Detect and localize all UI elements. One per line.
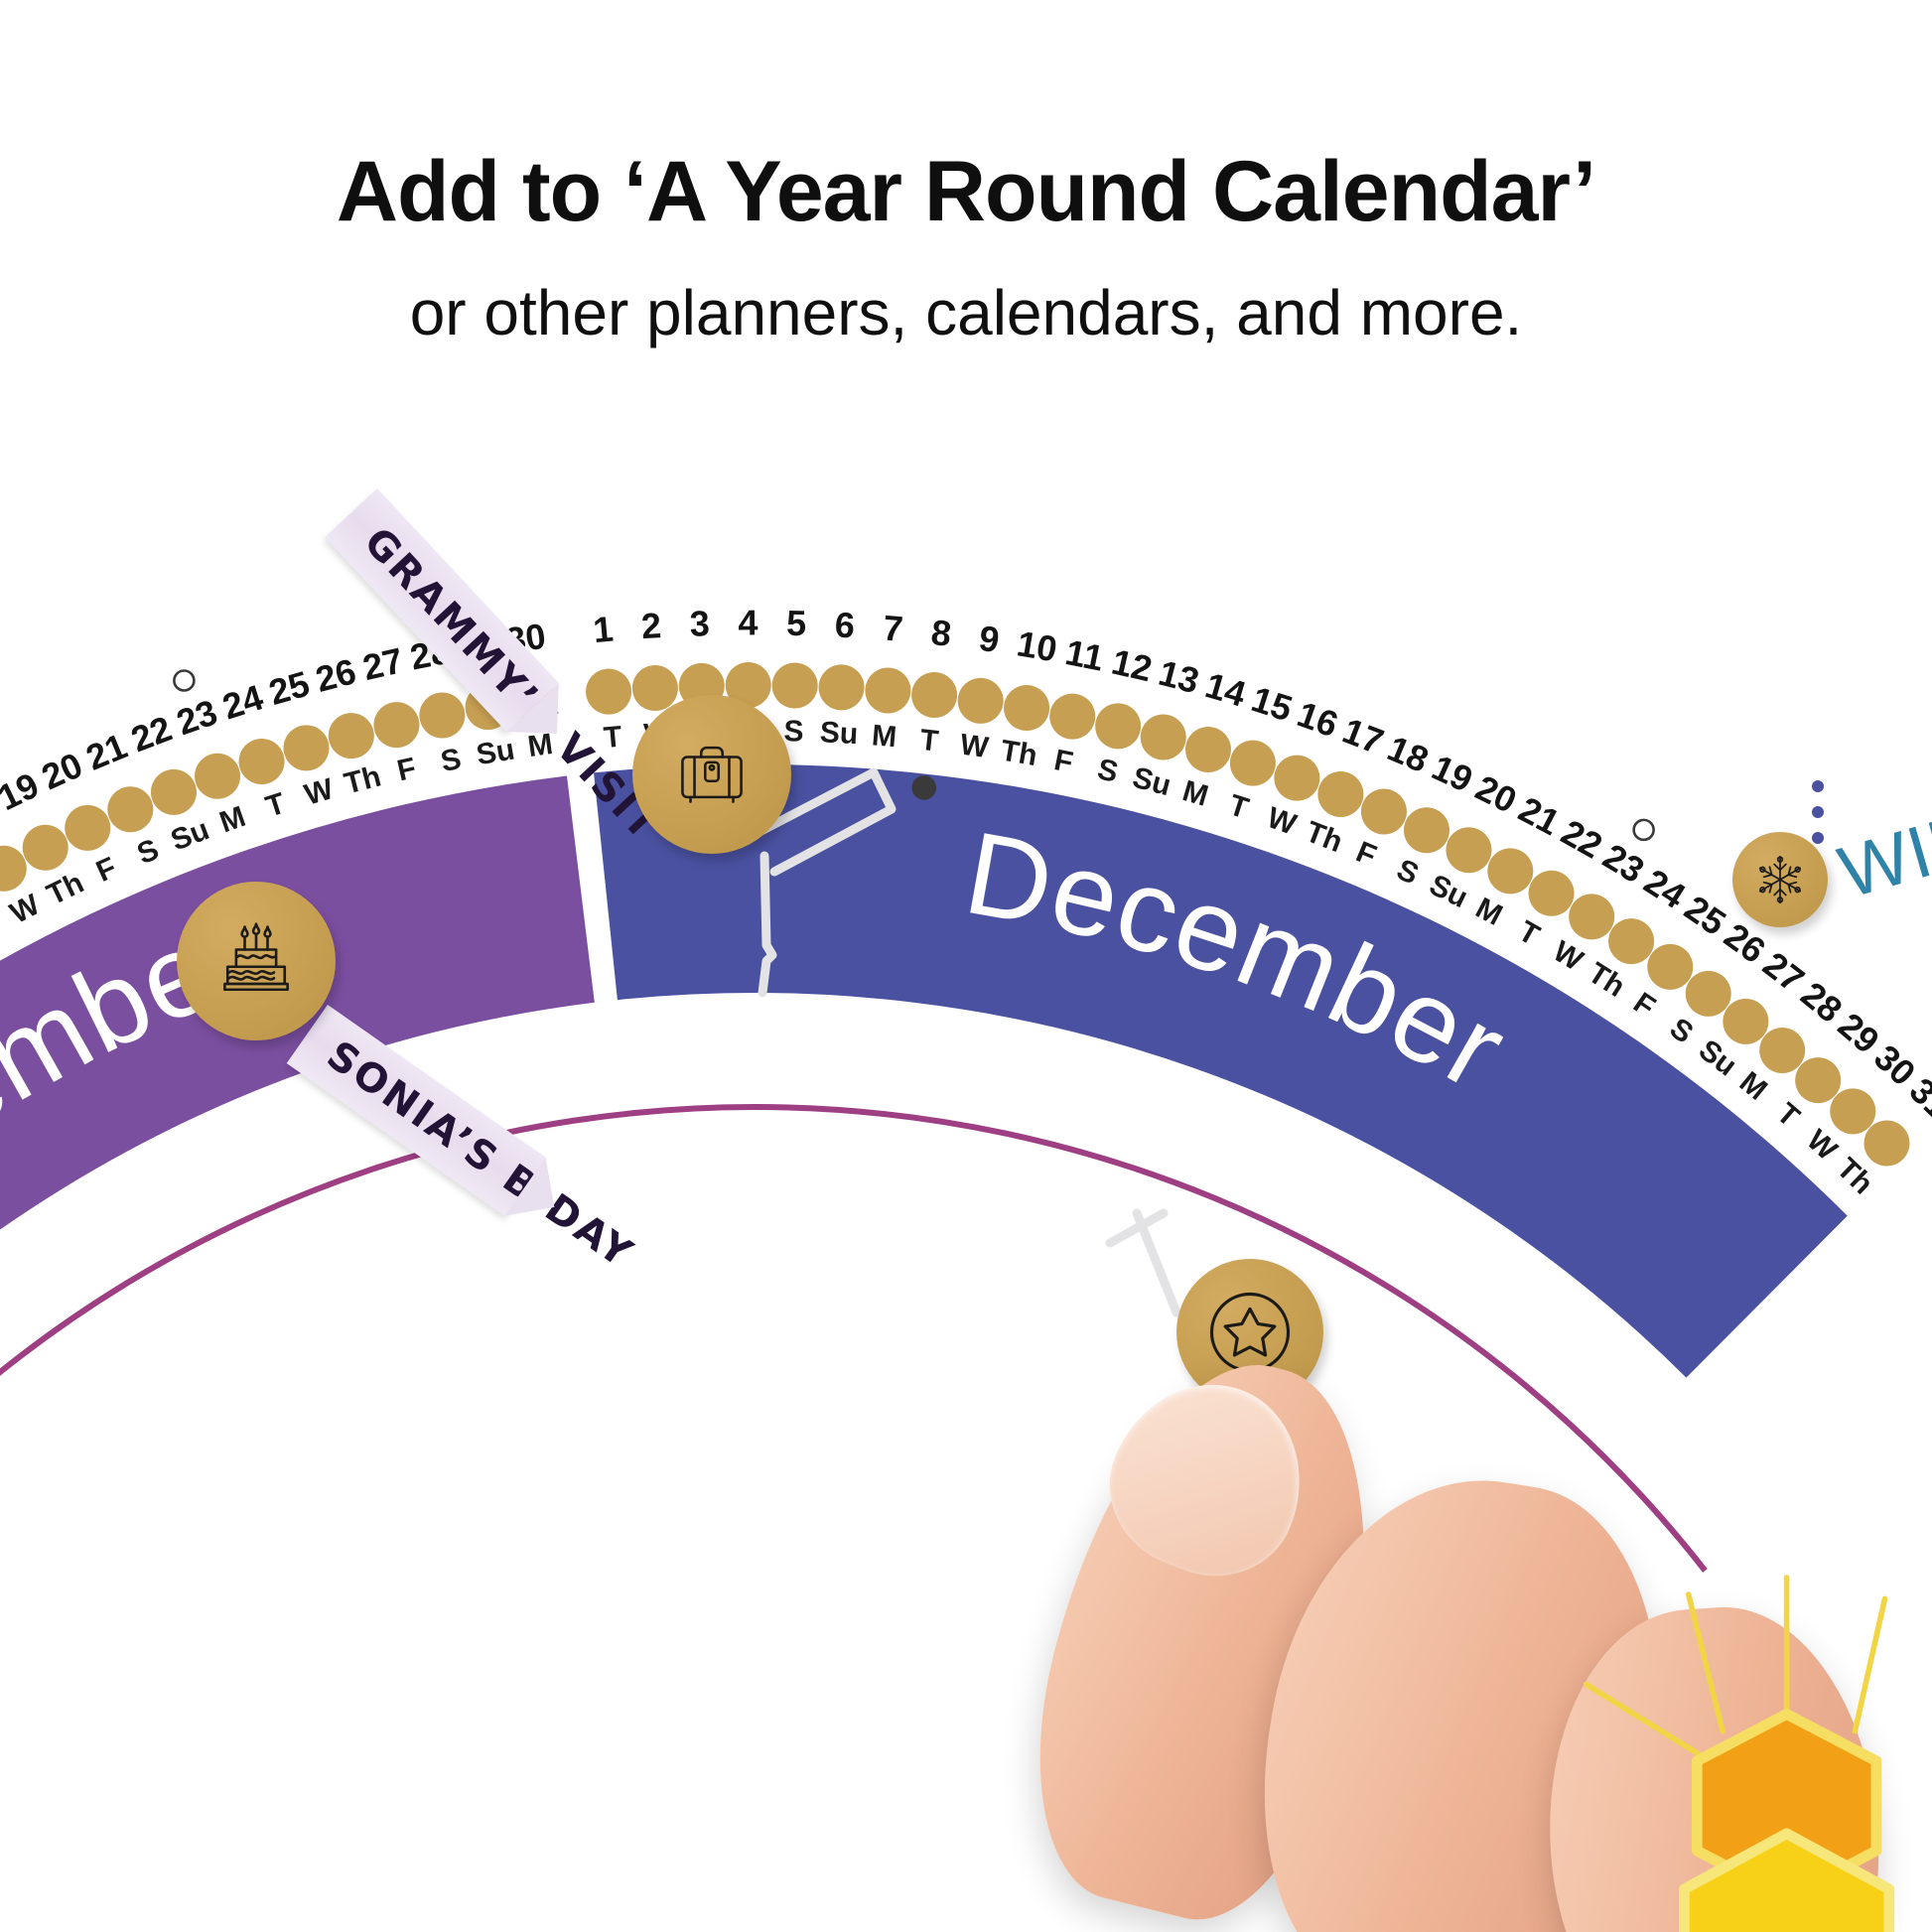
day-number: 21 (1512, 788, 1567, 843)
weekday-letter: Su (475, 733, 517, 771)
day-dot (865, 668, 910, 714)
weekday-letter: Su (167, 813, 214, 858)
day-number: 14 (1201, 664, 1251, 715)
day-number: 26 (312, 650, 360, 700)
day-dot (1004, 685, 1049, 731)
season-ring-line (0, 1107, 1705, 1932)
weekday-letter: M (1470, 892, 1507, 932)
day-dot (958, 678, 1004, 724)
connector-dot (1812, 780, 1824, 792)
sticker-star[interactable] (1176, 1259, 1323, 1406)
day-dot (1487, 848, 1533, 894)
connector-dot (1812, 832, 1824, 844)
day-dot (1795, 1057, 1841, 1103)
day-dot (772, 663, 818, 709)
day-number: 22 (1555, 811, 1609, 866)
day-dot (911, 672, 957, 718)
weekday-letter: T (262, 787, 289, 824)
day-number: 9 (977, 618, 1003, 660)
day-number: 24 (1637, 861, 1693, 916)
weekday-letter: S (1664, 1012, 1700, 1049)
day-number: 23 (1596, 835, 1651, 891)
day-number: 1 (592, 609, 616, 651)
day-number: 24 (217, 676, 268, 727)
weekday-letter: Th (1583, 956, 1631, 1004)
sticker-suitcase[interactable] (632, 695, 791, 854)
day-number: 6 (834, 604, 856, 645)
day-dot (284, 725, 330, 770)
weekday-letter: W (5, 888, 46, 930)
day-number: 22 (125, 708, 177, 760)
weekday-letter: F (1051, 744, 1075, 779)
day-dot (1759, 1028, 1805, 1073)
poster-canvas: Add to ‘A Year Round Calendar’ or other … (0, 0, 1932, 1932)
weekday-letter: S (133, 833, 164, 871)
day-number: 23 (172, 691, 222, 743)
sticker-snowflake[interactable] (1732, 832, 1828, 927)
connector-dot (1812, 806, 1824, 818)
day-dot (1095, 703, 1141, 749)
day-dot (1529, 871, 1575, 916)
weekday-letter: W (1800, 1124, 1844, 1168)
sun-graphic (1565, 1565, 1932, 1932)
day-dot (1274, 756, 1319, 801)
day-dot (373, 702, 419, 748)
weekday-letter: T (603, 721, 623, 756)
weekday-letter: T (1225, 788, 1253, 825)
moon-marker-new-moon-open (174, 670, 194, 690)
day-number: 11 (1062, 631, 1107, 679)
snowflake-icon (1749, 849, 1811, 910)
day-dot (1830, 1088, 1875, 1134)
day-number: 18 (1382, 728, 1435, 780)
weekday-letter: Su (1425, 869, 1473, 914)
day-number: 20 (36, 745, 88, 798)
day-number: 20 (1469, 766, 1523, 820)
weekday-letter: W (1548, 935, 1589, 978)
day-dot (586, 669, 631, 715)
day-number: 7 (882, 607, 904, 649)
day-dot (329, 713, 374, 759)
weekday-letter: Th (42, 867, 88, 912)
weekday-letter: M (1733, 1065, 1773, 1106)
day-dot (819, 664, 865, 710)
day-dot (1404, 807, 1449, 853)
weekday-letter: F (91, 851, 121, 889)
weekday-letter: T (1770, 1097, 1805, 1134)
day-dot (1185, 727, 1231, 772)
day-number: 3 (689, 603, 710, 644)
day-dot (632, 665, 678, 711)
day-number: 25 (264, 663, 314, 713)
day-dot (107, 786, 153, 832)
weekday-letter: S (438, 743, 464, 778)
day-number: 19 (1426, 747, 1478, 800)
weekday-letter: M (871, 719, 898, 754)
weekday-letter: Th (998, 735, 1039, 773)
day-dot (1361, 788, 1407, 834)
day-number: 12 (1108, 641, 1156, 690)
weekday-letter: S (1392, 853, 1424, 891)
weekday-letter: Th (1302, 815, 1347, 859)
day-dot (1863, 1120, 1909, 1166)
weekday-letter: M (1178, 774, 1211, 813)
weekday-letter: W (958, 729, 991, 765)
day-dot (23, 825, 69, 871)
day-number: 15 (1247, 678, 1298, 729)
day-dot (1647, 944, 1693, 990)
day-number: 27 (359, 639, 407, 688)
day-dot (419, 692, 465, 738)
day-dot (1049, 694, 1095, 740)
weekday-letter: S (783, 715, 804, 748)
weekday-letter: Su (1129, 761, 1173, 803)
weekday-letter: M (215, 800, 249, 839)
day-dot (1569, 894, 1614, 939)
day-dot (1686, 971, 1731, 1017)
day-dot (195, 754, 240, 799)
suitcase-icon (669, 732, 755, 817)
day-number: 8 (929, 612, 953, 654)
day-dot (1317, 771, 1363, 817)
day-number: 17 (1337, 710, 1389, 762)
weekday-letter: F (1627, 986, 1661, 1024)
day-number: 25 (1678, 888, 1733, 943)
weekday-letter: T (918, 724, 940, 759)
weekday-letter: W (1263, 801, 1301, 842)
birthday-cake-icon (210, 915, 302, 1007)
day-dot (65, 805, 110, 851)
day-number: 4 (738, 602, 758, 642)
weekday-letter: F (394, 752, 419, 787)
day-dot (1608, 918, 1654, 964)
day-number: 13 (1155, 652, 1203, 702)
weekday-letter: F (1351, 836, 1381, 874)
day-dot (1723, 999, 1768, 1044)
day-dot (0, 846, 27, 892)
star-in-circle-icon (1194, 1277, 1306, 1388)
weekday-letter: S (1094, 753, 1121, 789)
day-number: 10 (1014, 622, 1059, 669)
day-number: 5 (786, 603, 807, 643)
day-number: 16 (1293, 693, 1343, 745)
day-dot (1141, 715, 1186, 760)
day-dot (239, 739, 285, 784)
day-number: 19 (0, 764, 45, 818)
moon-marker-full-moon-filled (913, 776, 935, 798)
weekday-letter: T (1513, 914, 1545, 952)
moon-marker-new-moon-open (1634, 820, 1654, 840)
weekday-letter: Th (341, 760, 384, 801)
day-number: 2 (640, 605, 662, 646)
sticker-birthday-cake[interactable] (177, 882, 336, 1040)
weekday-letter: T (0, 912, 1, 950)
weekday-letter: W (301, 772, 338, 812)
day-dot (1230, 741, 1276, 786)
weekday-letter: Su (819, 716, 859, 751)
day-dot (1446, 827, 1491, 873)
day-dot (151, 769, 197, 815)
day-number: 21 (80, 725, 133, 777)
